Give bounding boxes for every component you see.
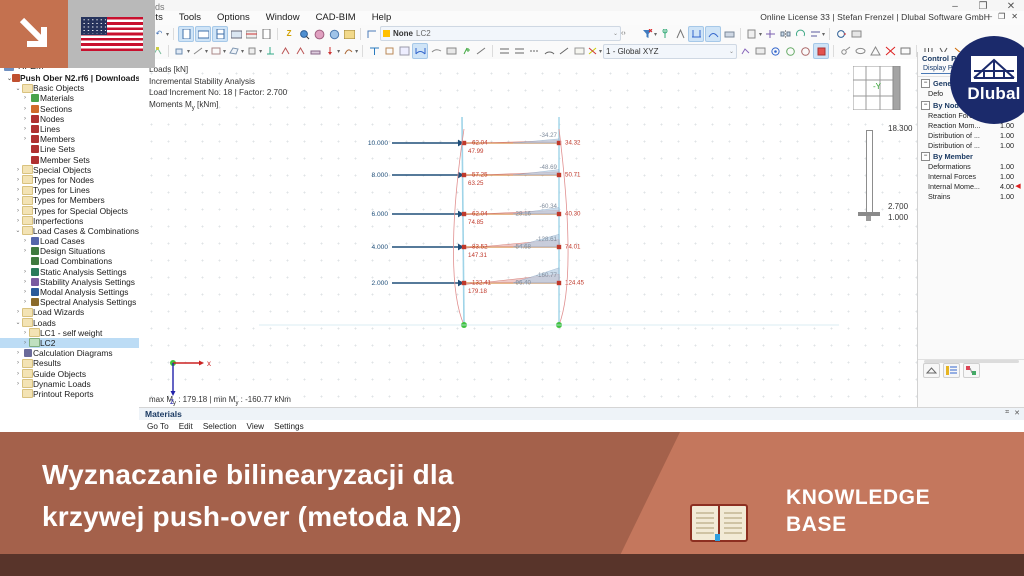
tree-item-label: Sections — [40, 104, 72, 114]
tree-item-label: Line Sets — [40, 144, 75, 154]
model-viewport[interactable]: Loads [kN] Incremental Stability Analysi… — [139, 59, 917, 407]
dim-linear-icon[interactable] — [512, 44, 526, 58]
cp-row-value[interactable]: 1.00 — [994, 192, 1014, 201]
tree-item-static-analysis-settings[interactable]: ›Static Analysis Settings — [0, 267, 139, 277]
tree-item-loads[interactable]: ⌄Loads — [0, 318, 139, 328]
copy-dropdown-icon[interactable]: ▾ — [759, 31, 762, 38]
moment-value-label: -34.27 — [539, 132, 557, 139]
mesh-icon[interactable] — [673, 27, 687, 41]
tree-item-label: Members — [40, 134, 75, 144]
chevron-down-icon[interactable]: ⌄ — [613, 30, 618, 37]
tree-item-dynamic-loads[interactable]: ›Dynamic Loads — [0, 379, 139, 389]
tree-expander-icon[interactable]: › — [21, 136, 29, 142]
dimension-bar — [866, 130, 873, 214]
folder-icon — [22, 369, 33, 378]
load-case-value: LC2 — [416, 29, 431, 38]
plane-dropdown-icon[interactable]: ▾ — [599, 48, 602, 55]
print-icon[interactable] — [722, 27, 736, 41]
tree-expander-icon[interactable]: › — [14, 381, 22, 387]
load-case-label: None — [393, 29, 413, 38]
tree-item-label: Loads — [33, 318, 56, 328]
arrow-badge — [0, 0, 68, 68]
tree-expander-icon[interactable]: › — [21, 238, 29, 244]
tree-item-types-for-nodes[interactable]: ›Types for Nodes — [0, 175, 139, 185]
results-value-icon[interactable] — [327, 27, 341, 41]
close-icon[interactable]: ✕ — [1014, 409, 1020, 417]
design-situations-icon — [29, 247, 40, 255]
moment-value-label: -128.61 — [536, 236, 558, 243]
tree-item-label: Static Analysis Settings — [40, 267, 127, 277]
sections-icon — [29, 105, 40, 113]
cp-group-toggle-icon[interactable]: − — [921, 79, 930, 88]
moment-value-label: 50.71 — [565, 172, 581, 179]
cp-group-toggle-icon[interactable]: − — [921, 152, 930, 161]
bottom-dock-controls[interactable]: ⌗ ✕ — [1005, 409, 1020, 417]
dock-menu-selection[interactable]: Selection — [203, 422, 237, 431]
tree-expander-icon[interactable]: › — [14, 371, 22, 377]
tree-item-label: Push Ober N2.rf6 | Downloads — [20, 73, 140, 83]
lc-next-icon[interactable]: › — [623, 30, 625, 37]
align-icon[interactable] — [808, 27, 822, 41]
lines-icon — [29, 125, 40, 133]
view-3d-icon[interactable] — [212, 26, 228, 42]
new-load-icon[interactable] — [323, 44, 337, 58]
tree-expander-icon[interactable]: › — [14, 218, 22, 224]
spectral-analysis-icon — [29, 298, 40, 306]
align-dropdown-icon[interactable]: ▾ — [822, 31, 825, 38]
tree-item-label: Modal Analysis Settings — [40, 287, 128, 297]
tree-item-label: Printout Reports — [33, 389, 94, 399]
model-tree[interactable]: ⌄Push Ober N2.rf6 | Downloads⌄Basic Obje… — [0, 73, 139, 399]
line-tool-icon[interactable] — [474, 44, 488, 58]
tree-item-sections[interactable]: ›Sections — [0, 104, 139, 114]
tree-expander-icon[interactable]: › — [21, 248, 29, 254]
support-icon[interactable] — [658, 27, 672, 41]
new-imperfection-icon[interactable] — [341, 44, 355, 58]
document-window-controls[interactable]: – ❐ ✕ — [988, 12, 1018, 21]
moment-value-label: 47.99 — [468, 148, 484, 155]
tree-item-special-objects[interactable]: ›Special Objects — [0, 165, 139, 175]
column-moment-right — [559, 129, 568, 325]
tree-item-label: Imperfections — [33, 216, 83, 226]
tree-item-label: Basic Objects — [33, 83, 84, 93]
cp-group-label: By Member — [933, 152, 973, 161]
tree-item-label: Results — [33, 358, 61, 368]
cp-row[interactable]: Distribution of ...1.00 — [918, 130, 1024, 140]
render-icon[interactable] — [923, 363, 940, 378]
tree-item-load-wizards[interactable]: ›Load Wizards — [0, 307, 139, 317]
dim-slope-icon[interactable] — [557, 44, 571, 58]
banner-title: Wyznaczanie bilinearyzacji dla krzywej p… — [42, 454, 642, 538]
cp-row[interactable]: Deformations1.00 — [918, 162, 1024, 172]
tree-item-label: Types for Nodes — [33, 175, 94, 185]
dimension-label-mid: 2.700 — [888, 202, 908, 211]
tree-expander-icon[interactable]: › — [14, 208, 22, 214]
tree-item-calculation-diagrams[interactable]: ›Calculation Diagrams — [0, 348, 139, 358]
tree-expander-icon[interactable]: › — [21, 279, 29, 285]
load-case-combo[interactable]: None LC2 ⌄ — [380, 26, 621, 41]
doc-close-icon[interactable]: ✕ — [1011, 12, 1018, 21]
imperfection-dropdown-icon[interactable]: ▾ — [355, 48, 358, 55]
doc-restore-icon[interactable]: ❐ — [998, 12, 1005, 21]
calculate-icon[interactable] — [367, 44, 381, 58]
tree-item-label: Nodes — [40, 114, 64, 124]
coordinate-system-value: 1 - Global XYZ — [606, 47, 658, 56]
flag-stars — [82, 18, 106, 34]
mirror-icon[interactable] — [778, 27, 792, 41]
new-surface-dropdown-icon[interactable]: ▾ — [241, 48, 244, 55]
object-snap-icon[interactable] — [768, 44, 782, 58]
cp-row-value[interactable]: 1.00 — [994, 131, 1014, 140]
menu-item-help[interactable]: Help — [364, 11, 400, 24]
global-axis-triad: x z — [169, 359, 215, 405]
moment-value-label: -60.34 — [539, 203, 557, 210]
cp-row-label: Strains — [928, 192, 994, 201]
storey-row: 10.000-62.0447.9934.32-34.27 — [368, 132, 581, 155]
cp-row-label: Distribution of ... — [928, 141, 994, 150]
view-render-icon[interactable] — [229, 27, 243, 41]
tree-expander-icon[interactable]: › — [21, 340, 29, 346]
moment-value-label: -62.04 — [470, 211, 488, 218]
dimension-label-top: 18.300 — [888, 124, 912, 133]
new-member-icon[interactable] — [209, 44, 223, 58]
filter-icon[interactable] — [640, 27, 654, 41]
plane-mark-icon[interactable] — [585, 44, 599, 58]
menu-item-cad-bim[interactable]: CAD-BIM — [308, 11, 364, 24]
model-view-icon[interactable] — [849, 27, 863, 41]
tree-expander-icon[interactable]: › — [14, 177, 22, 183]
tree-item-types-for-members[interactable]: ›Types for Members — [0, 195, 139, 205]
bottom-dock[interactable]: Materials Go ToEditSelectionViewSettings… — [139, 407, 1024, 432]
tree-expander-icon[interactable]: › — [21, 269, 29, 275]
dim-arc-icon[interactable] — [542, 44, 556, 58]
cp-row[interactable]: Reaction Mom...1.00 — [918, 121, 1024, 131]
storey-row: 6.000-62.0474.8540.30-60.34-29.16 — [371, 203, 581, 226]
stability-analysis-icon — [29, 278, 40, 286]
tree-item-load-combinations[interactable]: Load Combinations — [0, 256, 139, 266]
view-grid-icon[interactable] — [244, 27, 258, 41]
menu-item-options[interactable]: Options — [209, 11, 258, 24]
moment-value-label: 8.000 — [371, 172, 388, 179]
folder-icon — [22, 308, 33, 317]
tree-item-spectral-analysis-settings[interactable]: ›Spectral Analysis Settings — [0, 297, 139, 307]
doc-minimize-icon[interactable]: – — [988, 12, 992, 21]
toolbar-separator — [168, 45, 169, 57]
moment-value-label: 74.01 — [565, 244, 581, 251]
zoom-out-icon[interactable] — [834, 27, 848, 41]
tree-item-label: Types for Members — [33, 195, 105, 205]
knowledge-base-banner: Wyznaczanie bilinearyzacji dla krzywej p… — [0, 432, 1024, 576]
tree-item-member-sets[interactable]: Member Sets — [0, 155, 139, 165]
folder-icon — [22, 206, 33, 215]
new-solid-dropdown-icon[interactable]: ▾ — [259, 48, 262, 55]
tree-item-label: Load Wizards — [33, 307, 84, 317]
tree-item-results[interactable]: ›Results — [0, 358, 139, 368]
kb-line-1: KNOWLEDGE — [786, 484, 930, 511]
modal-analysis-icon — [29, 288, 40, 296]
book-icon — [690, 504, 746, 540]
tree-item-materials[interactable]: ›Materials — [0, 93, 139, 103]
new-line-icon[interactable] — [191, 44, 205, 58]
tree-item-guide-objects[interactable]: ›Guide Objects — [0, 368, 139, 378]
results-table-icon[interactable] — [342, 27, 356, 41]
folder-icon — [22, 186, 33, 195]
cp-row-label: Internal Mome... — [928, 182, 994, 191]
tree-expander-icon[interactable]: › — [21, 106, 29, 112]
load-display-icon[interactable] — [688, 26, 704, 42]
list-icon[interactable] — [943, 363, 960, 378]
member-result-icon[interactable] — [397, 44, 411, 58]
storey-row: 4.000-83.52147.3174.01-128.61-54.68 — [371, 234, 581, 259]
moment-value-label: 179.18 — [468, 288, 487, 295]
moment-value-label: 124.45 — [565, 280, 584, 287]
tree-expander-icon[interactable]: ⌄ — [14, 227, 22, 234]
grid-settings-icon[interactable] — [753, 44, 767, 58]
snap-settings-icon[interactable] — [738, 44, 752, 58]
rfem-application-window: ads – ❐ ✕ esultsToolsOptionsWindowCAD-BI… — [0, 0, 1024, 432]
license-info: Online License 33 | Stefan Frenzel | Dlu… — [760, 12, 990, 22]
new-node-dropdown-icon[interactable]: ▾ — [187, 48, 190, 55]
tree-item-design-situations[interactable]: ›Design Situations — [0, 246, 139, 256]
moment-value-label: -83.52 — [470, 244, 488, 251]
release-icon[interactable] — [429, 44, 443, 58]
chevron-down-icon[interactable]: ⌄ — [729, 48, 734, 55]
view-plan-icon[interactable] — [195, 26, 211, 42]
dock-menu-view[interactable]: View — [247, 422, 265, 431]
delete-icon[interactable] — [883, 44, 897, 58]
materials-icon — [29, 94, 40, 102]
calc-diagram-icon — [22, 349, 33, 357]
undo-dropdown-icon[interactable]: ▾ — [166, 31, 169, 38]
cp-row-value[interactable]: 1.00 — [994, 162, 1014, 171]
tree-item-load-cases-combinations[interactable]: ⌄Load Cases & Combinations — [0, 226, 139, 236]
tree-expander-icon[interactable]: ⌄ — [14, 319, 22, 326]
tree-expander-icon[interactable]: › — [14, 350, 22, 356]
dim-angular-icon[interactable] — [527, 44, 541, 58]
tree-item-members[interactable]: ›Members — [0, 134, 139, 144]
static-analysis-icon — [29, 268, 40, 276]
polar-icon[interactable] — [798, 44, 812, 58]
tree-expander-icon[interactable]: › — [21, 330, 29, 336]
add-member-icon[interactable] — [459, 44, 473, 58]
new-node-icon[interactable] — [173, 44, 187, 58]
kb-line-2: BASE — [786, 511, 930, 538]
note-icon[interactable] — [572, 44, 586, 58]
tree-item-modal-analysis-settings[interactable]: ›Modal Analysis Settings — [0, 287, 139, 297]
dimension-base — [858, 212, 880, 216]
dock-menu-go-to[interactable]: Go To — [147, 422, 169, 431]
new-support-icon[interactable] — [263, 44, 277, 58]
cp-row-label: Distribution of ... — [928, 131, 994, 140]
line-sets-icon — [29, 145, 40, 153]
moment-value-label: 2.000 — [371, 280, 388, 287]
language-flag-badge — [68, 0, 155, 68]
load-combinations-icon — [29, 257, 40, 265]
tree-expander-icon[interactable]: › — [14, 167, 22, 173]
moment-value-label: -57.25 — [470, 172, 488, 179]
tree-item-label: Types for Special Objects — [33, 206, 128, 216]
new-hinge2-icon[interactable] — [293, 44, 307, 58]
tree-expander-icon[interactable]: › — [14, 197, 22, 203]
new-line-dropdown-icon[interactable]: ▾ — [205, 48, 208, 55]
new-surface-icon[interactable] — [227, 44, 241, 58]
tree-expander-icon[interactable]: › — [21, 299, 29, 305]
moment-value-label: -132.41 — [470, 280, 492, 287]
folder-icon — [22, 379, 33, 388]
tree-item-printout-reports[interactable]: Printout Reports — [0, 389, 139, 399]
dlubal-wordmark: Dlubal — [967, 84, 1020, 104]
control-panel-footer[interactable] — [918, 359, 1024, 381]
tree-expander-icon[interactable]: › — [14, 309, 22, 315]
move-icon[interactable] — [763, 27, 777, 41]
menu-item-tools[interactable]: Tools — [171, 11, 209, 24]
book-right-page — [718, 504, 748, 542]
cp-row[interactable]: Distribution of ...1.00 — [918, 140, 1024, 150]
tree-item-label: Calculation Diagrams — [33, 348, 113, 358]
coordinate-system-combo[interactable]: 1 - Global XYZ ⌄ — [603, 44, 737, 59]
moment-value-label: 63.25 — [468, 180, 484, 187]
moment-value-label: -62.04 — [470, 140, 488, 147]
knowledge-base-label: KNOWLEDGE BASE — [786, 484, 930, 538]
tree-item-lines[interactable]: ›Lines — [0, 124, 139, 134]
tree-item-nodes[interactable]: ›Nodes — [0, 114, 139, 124]
tree-item-push-ober-n2-rf6-downloads[interactable]: ⌄Push Ober N2.rf6 | Downloads — [0, 73, 139, 83]
cp-row[interactable]: Internal Forces1.00 — [918, 172, 1024, 182]
folder-icon — [22, 196, 33, 205]
dock-menu-settings[interactable]: Settings — [274, 422, 304, 431]
cp-row[interactable]: Internal Mome...4.00◀ — [918, 181, 1024, 191]
storey-row: 8.000-57.2563.2550.71-48.69 — [371, 164, 581, 187]
view-wire-icon[interactable] — [259, 27, 273, 41]
nodal-support-icon[interactable] — [382, 44, 396, 58]
moment-value-label: 4.000 — [371, 244, 388, 251]
banner-title-line-1: Wyznaczanie bilinearyzacji dla — [42, 454, 642, 496]
pin-icon[interactable]: ⌗ — [1005, 409, 1009, 417]
new-foundation-icon[interactable] — [308, 44, 322, 58]
screenshot-icon[interactable] — [898, 44, 912, 58]
toolbar-separator — [173, 28, 174, 40]
osnap-active-icon[interactable] — [813, 43, 829, 59]
toolbar-separator — [360, 28, 361, 40]
view-front-icon[interactable] — [178, 26, 194, 42]
results-color-icon[interactable] — [312, 27, 326, 41]
new-solid-icon[interactable] — [245, 44, 259, 58]
object-info-icon[interactable] — [444, 44, 458, 58]
cp-row-label: Deformations — [928, 162, 994, 171]
tree-expander-icon[interactable]: ⌄ — [14, 85, 22, 92]
dock-menu-edit[interactable]: Edit — [179, 422, 193, 431]
new-member-dropdown-icon[interactable]: ▾ — [223, 48, 226, 55]
tree-item-types-for-special-objects[interactable]: ›Types for Special Objects — [0, 205, 139, 215]
member-sets-icon — [29, 156, 40, 164]
tree-expander-icon[interactable]: › — [21, 289, 29, 295]
new-load-dropdown-icon[interactable]: ▾ — [337, 48, 340, 55]
folder-icon — [22, 318, 33, 327]
moment-value-label: 34.32 — [565, 140, 581, 147]
column-left — [462, 117, 464, 325]
deformation-icon[interactable]: Z — [282, 27, 296, 41]
folder-icon — [22, 359, 33, 368]
moment-value-label: 10.000 — [368, 140, 389, 147]
us-flag-icon — [81, 17, 143, 51]
section-cut-icon[interactable] — [365, 27, 379, 41]
load-case-color-swatch — [383, 30, 390, 37]
cp-row-value[interactable]: 1.00 — [994, 172, 1014, 181]
dimension-label-bottom: 1.000 — [888, 213, 908, 222]
tree-item-label: Design Situations — [40, 246, 105, 256]
tree-expander-icon[interactable]: › — [21, 116, 29, 122]
members-icon — [29, 135, 40, 143]
tree-item-lc1-self-weight[interactable]: ›LC1 - self weight — [0, 328, 139, 338]
tree-item-basic-objects[interactable]: ⌄Basic Objects — [0, 83, 139, 93]
ortho-icon[interactable] — [783, 44, 797, 58]
results-diagram-icon[interactable] — [412, 43, 428, 59]
tree-item-lc2[interactable]: ›LC2 — [0, 338, 139, 348]
tree-item-imperfections[interactable]: ›Imperfections — [0, 216, 139, 226]
deformation-display-icon[interactable] — [705, 26, 721, 42]
flag-canton — [81, 17, 107, 35]
rotate-icon[interactable] — [793, 27, 807, 41]
dim-horizontal-icon[interactable] — [497, 44, 511, 58]
navigator-panel[interactable]: RFEM ⌄Push Ober N2.rf6 | Downloads⌄Basic… — [0, 59, 140, 432]
folder-icon — [22, 216, 33, 225]
cp-group-by-member[interactable]: −By Member — [918, 150, 1024, 162]
moment-value-label: -54.68 — [513, 244, 531, 251]
tree-expander-icon[interactable]: › — [14, 360, 22, 366]
tree-item-label: Special Objects — [33, 165, 91, 175]
tree-item-load-cases[interactable]: ›Load Cases — [0, 236, 139, 246]
cp-group-toggle-icon[interactable]: − — [921, 101, 930, 110]
tree-item-label: Guide Objects — [33, 369, 86, 379]
bottom-dock-menu[interactable]: Go ToEditSelectionViewSettings — [139, 420, 1024, 432]
toolbar-separator — [362, 45, 363, 57]
moment-value-label: -48.69 — [539, 164, 557, 171]
visibility-icon[interactable] — [853, 44, 867, 58]
cp-row[interactable]: Strains1.00 — [918, 191, 1024, 201]
toolbar-separator — [740, 28, 741, 40]
toolbar-separator — [833, 45, 834, 57]
tree-item-label: Load Cases & Combinations — [33, 226, 139, 236]
new-hinge-icon[interactable] — [278, 44, 292, 58]
orientation-cube[interactable]: -Y — [853, 66, 901, 110]
color-scale-icon[interactable] — [963, 363, 980, 378]
copy-icon[interactable] — [745, 27, 759, 41]
tree-item-stability-analysis-settings[interactable]: ›Stability Analysis Settings — [0, 277, 139, 287]
cp-row-value[interactable]: 1.00 — [994, 141, 1014, 150]
moment-value-label: -96.40 — [513, 280, 531, 287]
folder-icon — [22, 175, 33, 184]
toolbar-separator — [277, 28, 278, 40]
measure-icon[interactable] — [838, 44, 852, 58]
tree-item-label: Lines — [40, 124, 60, 134]
tree-item-label: Types for Lines — [33, 185, 90, 195]
warning-icon[interactable] — [868, 44, 882, 58]
tree-expander-icon[interactable]: › — [21, 126, 29, 132]
book-bookmark — [715, 534, 720, 541]
tree-item-label: Stability Analysis Settings — [40, 277, 135, 287]
banner-title-line-2: krzywej push-over (metoda N2) — [42, 496, 642, 538]
load-cases-icon — [29, 237, 40, 245]
tree-expander-icon[interactable]: › — [14, 187, 22, 193]
results-search-icon[interactable] — [297, 27, 311, 41]
filter-dropdown-icon[interactable]: ▾ — [654, 31, 657, 38]
tree-item-types-for-lines[interactable]: ›Types for Lines — [0, 185, 139, 195]
folder-green-icon — [29, 338, 40, 347]
tree-expander-icon[interactable]: › — [21, 95, 29, 101]
menu-item-window[interactable]: Window — [258, 11, 308, 24]
cp-row-value[interactable]: 4.00 — [994, 182, 1014, 191]
tree-item-line-sets[interactable]: Line Sets — [0, 144, 139, 154]
